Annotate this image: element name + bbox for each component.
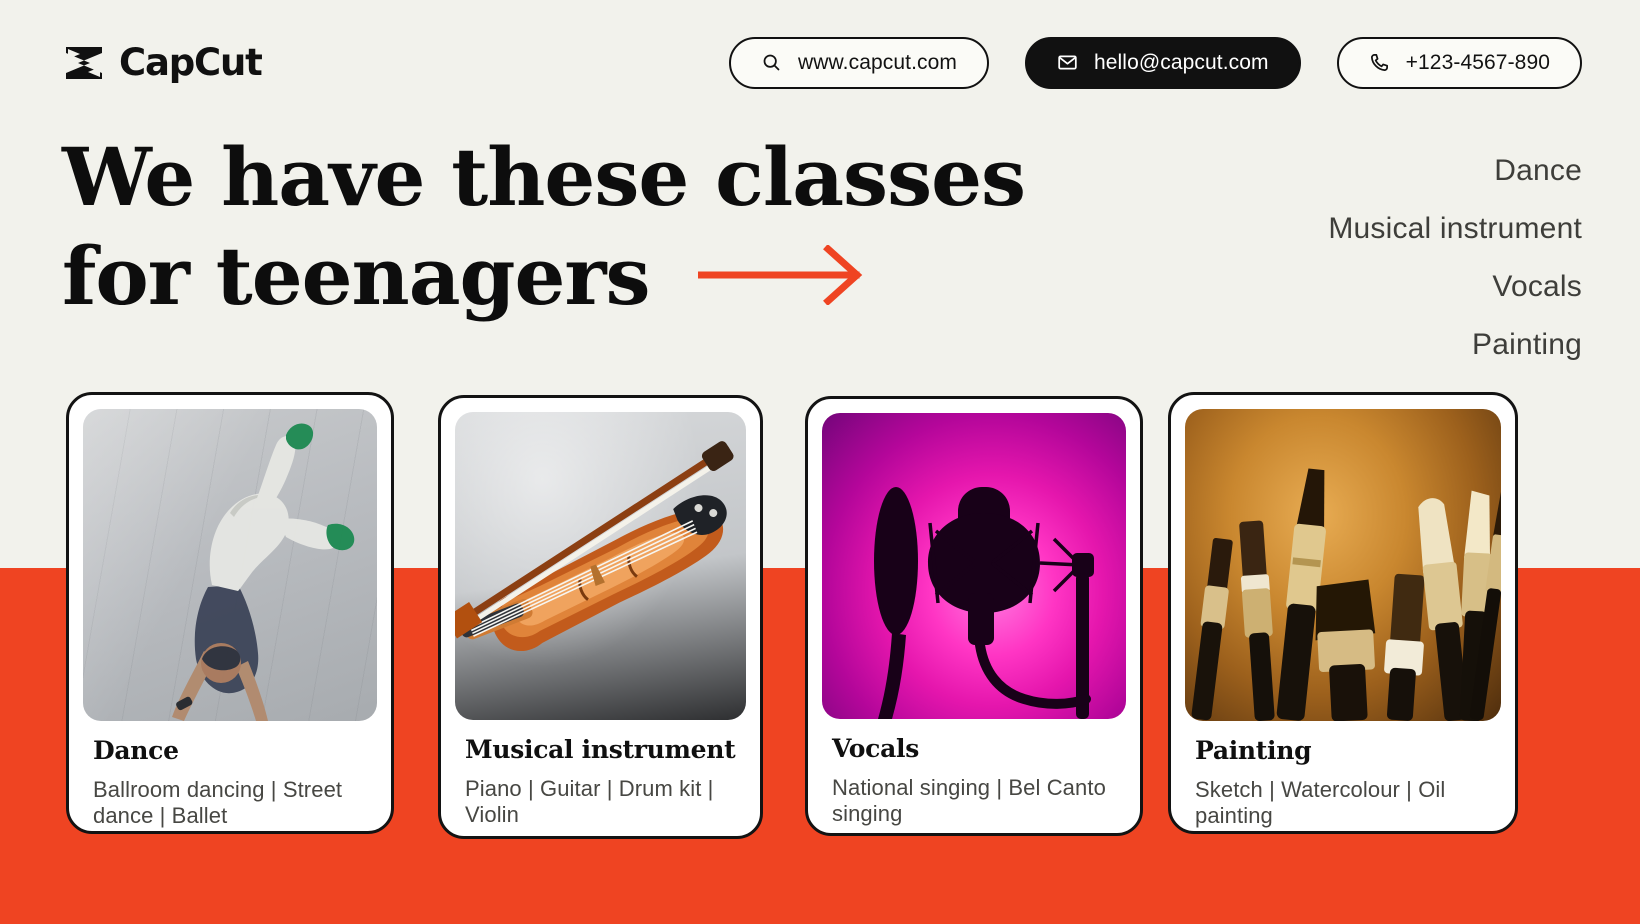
microphone-silhouette bbox=[822, 413, 1126, 719]
class-card-dance-title: Dance bbox=[93, 737, 367, 765]
class-card-music-image bbox=[455, 412, 746, 720]
violin-illustration bbox=[455, 412, 746, 720]
mail-icon bbox=[1057, 52, 1078, 73]
category-nav-item-painting[interactable]: Painting bbox=[1162, 316, 1582, 374]
headline-line-1: We have these classes bbox=[62, 128, 1182, 227]
class-card-music-title: Musical instrument bbox=[465, 736, 736, 764]
class-card-music-body: Musical instrument Piano | Guitar | Drum… bbox=[455, 720, 746, 829]
class-card-painting-description: Sketch | Watercolour | Oil painting bbox=[1195, 777, 1491, 831]
brand-logo[interactable]: CapCut bbox=[62, 37, 262, 89]
hero-arrow-button[interactable] bbox=[698, 245, 864, 309]
search-icon bbox=[761, 52, 782, 73]
contact-email-pill[interactable]: hello@capcut.com bbox=[1025, 37, 1301, 89]
class-card-painting-body: Painting Sketch | Watercolour | Oil pain… bbox=[1185, 721, 1501, 830]
category-nav-item-musical-instrument[interactable]: Musical instrument bbox=[1162, 200, 1582, 258]
category-nav: Dance Musical instrument Vocals Painting bbox=[1162, 142, 1582, 374]
capcut-logo-icon bbox=[62, 43, 106, 83]
class-card-dance[interactable]: Dance Ballroom dancing | Street dance | … bbox=[66, 392, 394, 834]
category-nav-item-dance[interactable]: Dance bbox=[1162, 142, 1582, 200]
class-card-painting-title: Painting bbox=[1195, 737, 1491, 765]
class-card-dance-body: Dance Ballroom dancing | Street dance | … bbox=[83, 721, 377, 830]
brand-name: CapCut bbox=[119, 44, 262, 81]
page-title: We have these classes for teenagers bbox=[62, 128, 1182, 326]
contact-phone-label: +123-4567-890 bbox=[1406, 51, 1550, 75]
class-card-painting[interactable]: Painting Sketch | Watercolour | Oil pain… bbox=[1168, 392, 1518, 834]
class-card-dance-image bbox=[83, 409, 377, 721]
contact-website-label: www.capcut.com bbox=[798, 51, 957, 75]
header-contact-group: www.capcut.com hello@capcut.com +123-456… bbox=[729, 37, 1582, 89]
contact-website-pill[interactable]: www.capcut.com bbox=[729, 37, 989, 89]
class-card-vocals[interactable]: Vocals National singing | Bel Canto sing… bbox=[805, 396, 1143, 836]
dancer-silhouette bbox=[83, 409, 377, 721]
class-card-dance-description: Ballroom dancing | Street dance | Ballet bbox=[93, 777, 367, 831]
class-card-vocals-title: Vocals bbox=[832, 735, 1116, 763]
headline-line-2-row: for teenagers bbox=[62, 227, 1182, 326]
class-card-vocals-description: National singing | Bel Canto singing bbox=[832, 775, 1116, 829]
class-card-vocals-image bbox=[822, 413, 1126, 719]
class-card-vocals-body: Vocals National singing | Bel Canto sing… bbox=[822, 719, 1126, 828]
page-header: CapCut www.capcut.com hello@capcut.com +… bbox=[0, 0, 1640, 125]
arrow-right-icon bbox=[698, 245, 864, 305]
contact-phone-pill[interactable]: +123-4567-890 bbox=[1337, 37, 1582, 89]
hero-section: We have these classes for teenagers bbox=[62, 128, 1182, 326]
class-card-painting-image bbox=[1185, 409, 1501, 721]
category-nav-item-vocals[interactable]: Vocals bbox=[1162, 258, 1582, 316]
phone-icon bbox=[1369, 52, 1390, 73]
contact-email-label: hello@capcut.com bbox=[1094, 51, 1269, 75]
paint-brushes-illustration bbox=[1185, 409, 1501, 721]
class-card-music[interactable]: Musical instrument Piano | Guitar | Drum… bbox=[438, 395, 763, 839]
class-card-music-description: Piano | Guitar | Drum kit | Violin bbox=[465, 776, 736, 830]
headline-line-2: for teenagers bbox=[62, 227, 650, 326]
